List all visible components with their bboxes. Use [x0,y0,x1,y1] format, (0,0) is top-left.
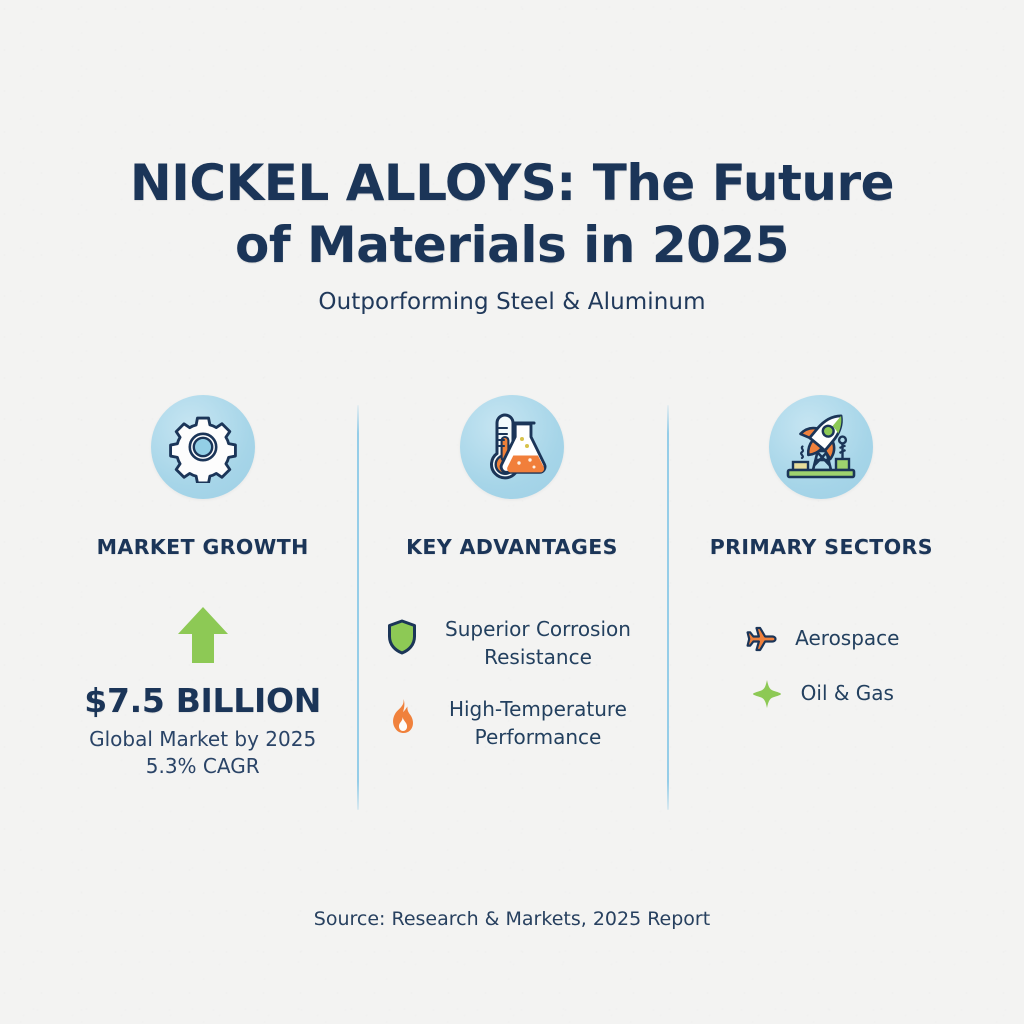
column-market-growth: MARKET GROWTH $7.5 BILLION Global Market… [48,395,357,779]
sectors-list: Aerospace Oil & Gas [667,617,976,714]
list-item: Superior Corrosion Resistance [384,615,639,671]
list-item: Aerospace [743,617,899,659]
list-item: High-Temperature Performance [384,695,639,751]
stat-line-2: 5.3% CAGR [146,753,260,779]
list-item: Oil & Gas [749,672,894,714]
rocket-oil-rig-icon [781,407,861,487]
column-key-advantages: KEY ADVANTAGES Superior Corrosion Resist… [357,395,666,751]
source-footer: Source: Research & Markets, 2025 Report [0,908,1024,930]
flame-icon [384,697,420,737]
column-divider-1 [357,405,359,810]
gear-icon-circle [151,395,255,499]
shield-icon [384,617,420,657]
columns-container: MARKET GROWTH $7.5 BILLION Global Market… [48,395,976,779]
thermometer-flask-icon-circle [460,395,564,499]
header: NICKEL ALLOYS: The Future of Materials i… [0,152,1024,315]
list-item-label: Oil & Gas [801,679,894,707]
column-primary-sectors: PRIMARY SECTORS Aerospace [667,395,976,714]
arrow-up-icon [175,604,231,671]
column-title-market-growth: MARKET GROWTH [97,535,309,559]
plus-icon [749,674,785,714]
page-title: NICKEL ALLOYS: The Future of Materials i… [0,152,1024,276]
stat-line-1: Global Market by 2025 [89,726,316,752]
column-title-primary-sectors: PRIMARY SECTORS [710,535,933,559]
rocket-oil-rig-icon-circle [769,395,873,499]
column-divider-2 [667,405,669,810]
stat-value: $7.5 BILLION [84,681,321,720]
advantages-list: Superior Corrosion Resistance High-Tempe… [357,615,666,751]
gear-icon [167,411,239,483]
list-item-label: Aerospace [795,624,899,652]
list-item-label: Superior Corrosion Resistance [436,615,639,671]
page-subtitle: Outporforming Steel & Aluminum [0,289,1024,315]
infographic-page: NICKEL ALLOYS: The Future of Materials i… [0,0,1024,1024]
thermometer-flask-icon [474,409,550,485]
column-title-key-advantages: KEY ADVANTAGES [406,535,618,559]
list-item-label: High-Temperature Performance [436,695,639,751]
airplane-icon [743,619,779,659]
